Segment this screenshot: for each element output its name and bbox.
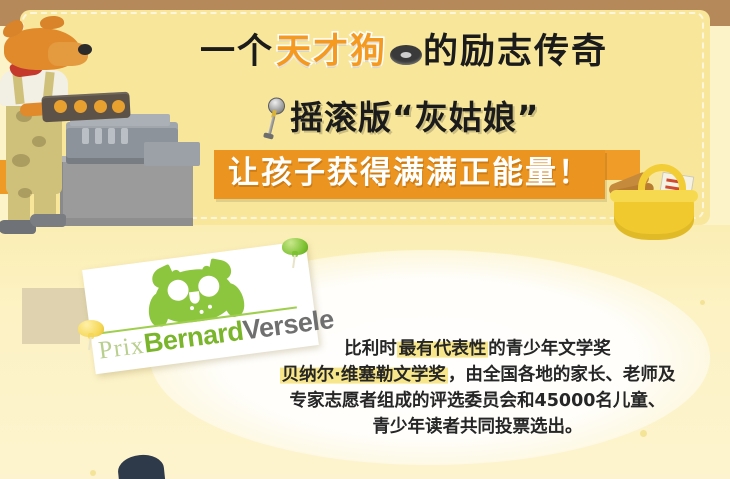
body-copy-line-4: 青少年读者共同投票选出。 xyxy=(255,414,700,440)
engine-cylinder xyxy=(121,128,128,144)
dog-ear-right xyxy=(39,14,65,30)
copy-text: ，由全国各地的家长、老师及 xyxy=(448,365,676,385)
green-pin-icon xyxy=(282,238,308,268)
engine-cylinder xyxy=(82,128,89,144)
headline: 一个天才狗的励志传奇 xyxy=(200,32,640,72)
headline-highlight: 天才狗 xyxy=(274,32,389,72)
microphone-icon xyxy=(257,93,289,143)
gasket-hole xyxy=(112,100,125,113)
workbench xyxy=(60,162,193,226)
headline-prefix: 一个 xyxy=(200,32,274,72)
gasket-hole xyxy=(54,100,67,113)
basket-with-bread-illustration xyxy=(608,158,700,244)
copy-text: 比利时 xyxy=(344,339,397,359)
body-copy: 比利时最有代表性的青少年文学奖 贝纳尔·维塞勒文学奖，由全国各地的家长、老师及 … xyxy=(255,336,700,440)
subheadline-text: 摇滚版“灰姑娘” xyxy=(290,99,539,137)
engine-cylinder xyxy=(95,128,102,144)
body-copy-line-3: 专家志愿者组成的评选委员会和45000名儿童、 xyxy=(255,388,700,414)
headline-suffix: 的励志传奇 xyxy=(423,32,608,72)
gasket-hole xyxy=(74,100,87,113)
dog-mechanic-illustration xyxy=(0,14,196,239)
body-copy-line-2: 贝纳尔·维塞勒文学奖，由全国各地的家长、老师及 xyxy=(255,362,700,388)
subheadline: 摇滚版“灰姑娘” xyxy=(262,95,539,141)
engine-cylinder xyxy=(108,128,115,144)
copy-highlight: 最有代表性 xyxy=(397,339,489,359)
poster-canvas: 一个天才狗的励志传奇 摇滚版“灰姑娘” 让孩子获得满满正能量！ xyxy=(0,0,730,479)
gasket-hole xyxy=(94,100,107,113)
overalls-stain xyxy=(18,188,32,198)
headline-line: 一个天才狗的励志传奇 xyxy=(200,32,640,72)
tan-shape-2 xyxy=(22,318,80,344)
banner-text: 让孩子获得满满正能量！ xyxy=(228,156,591,191)
overalls-stain xyxy=(32,136,46,147)
award-prix-label: Prix xyxy=(97,332,146,365)
dog-shoe-right xyxy=(30,214,66,227)
overalls-stain xyxy=(12,154,30,167)
dog-nose xyxy=(78,44,92,55)
tire-icon xyxy=(390,45,422,65)
background-fleck xyxy=(90,470,96,476)
engine-side-part xyxy=(144,142,200,166)
background-fleck xyxy=(700,300,705,305)
orange-banner: 让孩子获得满满正能量！ xyxy=(214,150,605,199)
copy-highlight: 贝纳尔·维塞勒文学奖 xyxy=(280,365,448,385)
body-copy-line-1: 比利时最有代表性的青少年文学奖 xyxy=(255,336,700,362)
copy-text: 的青少年文学奖 xyxy=(488,339,611,359)
basket-rim xyxy=(610,190,698,202)
yellow-pin-icon xyxy=(78,320,104,350)
